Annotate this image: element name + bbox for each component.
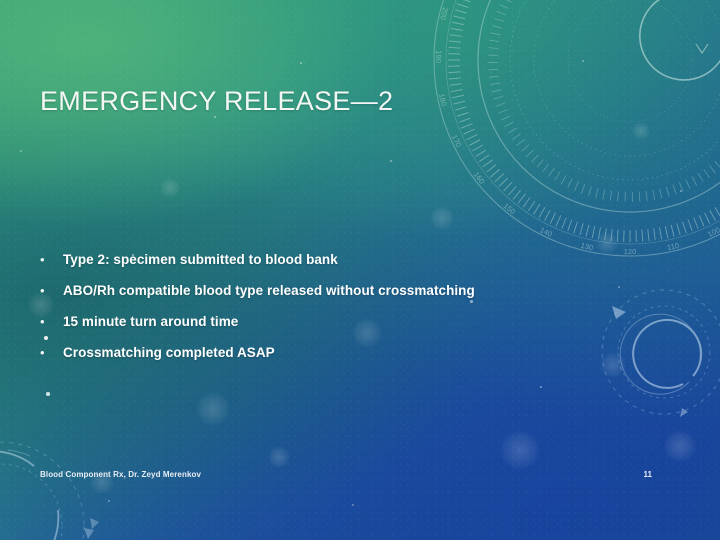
svg-text:170: 170 (450, 133, 463, 148)
list-item-label: Crossmatching completed ASAP (63, 345, 275, 360)
svg-text:130: 130 (580, 241, 594, 253)
bullet-point-icon: • (40, 253, 63, 266)
svg-text:100: 100 (706, 225, 720, 239)
footer-note: Blood Component Rx, Dr. Zeyd Merenkov (40, 470, 201, 479)
svg-text:180: 180 (437, 93, 448, 107)
bullet-point-icon: • (40, 346, 63, 359)
list-item: • 15 minute turn around time (40, 314, 600, 345)
list-item: • Crossmatching completed ASAP (40, 345, 600, 376)
list-item: • ABO/Rh compatible blood type released … (40, 283, 600, 314)
bullet-list: • Type 2: specimen submitted to blood ba… (40, 252, 600, 376)
bullet-point-icon: • (40, 315, 63, 328)
svg-text:200: 200 (438, 7, 450, 21)
list-item: • Type 2: specimen submitted to blood ba… (40, 252, 600, 283)
slide-canvas: 8090100110120130140150160170180190200210 (0, 0, 720, 540)
rotation-arrow-ring-graphic-right (596, 284, 720, 420)
svg-text:190: 190 (434, 50, 443, 63)
list-item-label: 15 minute turn around time (63, 314, 238, 329)
svg-text:160: 160 (472, 170, 487, 185)
list-item-label: Type 2: specimen submitted to blood bank (63, 252, 338, 267)
page-number: 11 (644, 470, 652, 479)
svg-text:140: 140 (538, 225, 553, 239)
compass-dial-graphic: 8090100110120130140150160170180190200210 (400, 0, 720, 280)
svg-text:110: 110 (666, 241, 680, 252)
list-item-label: ABO/Rh compatible blood type released wi… (63, 283, 475, 298)
slide-title: EMERGENCY RELEASE—2 (40, 86, 393, 117)
svg-text:120: 120 (624, 247, 637, 256)
bullet-point-icon: • (40, 284, 63, 297)
rotation-arrow-ring-graphic-left (0, 430, 104, 540)
svg-text:150: 150 (502, 201, 517, 216)
